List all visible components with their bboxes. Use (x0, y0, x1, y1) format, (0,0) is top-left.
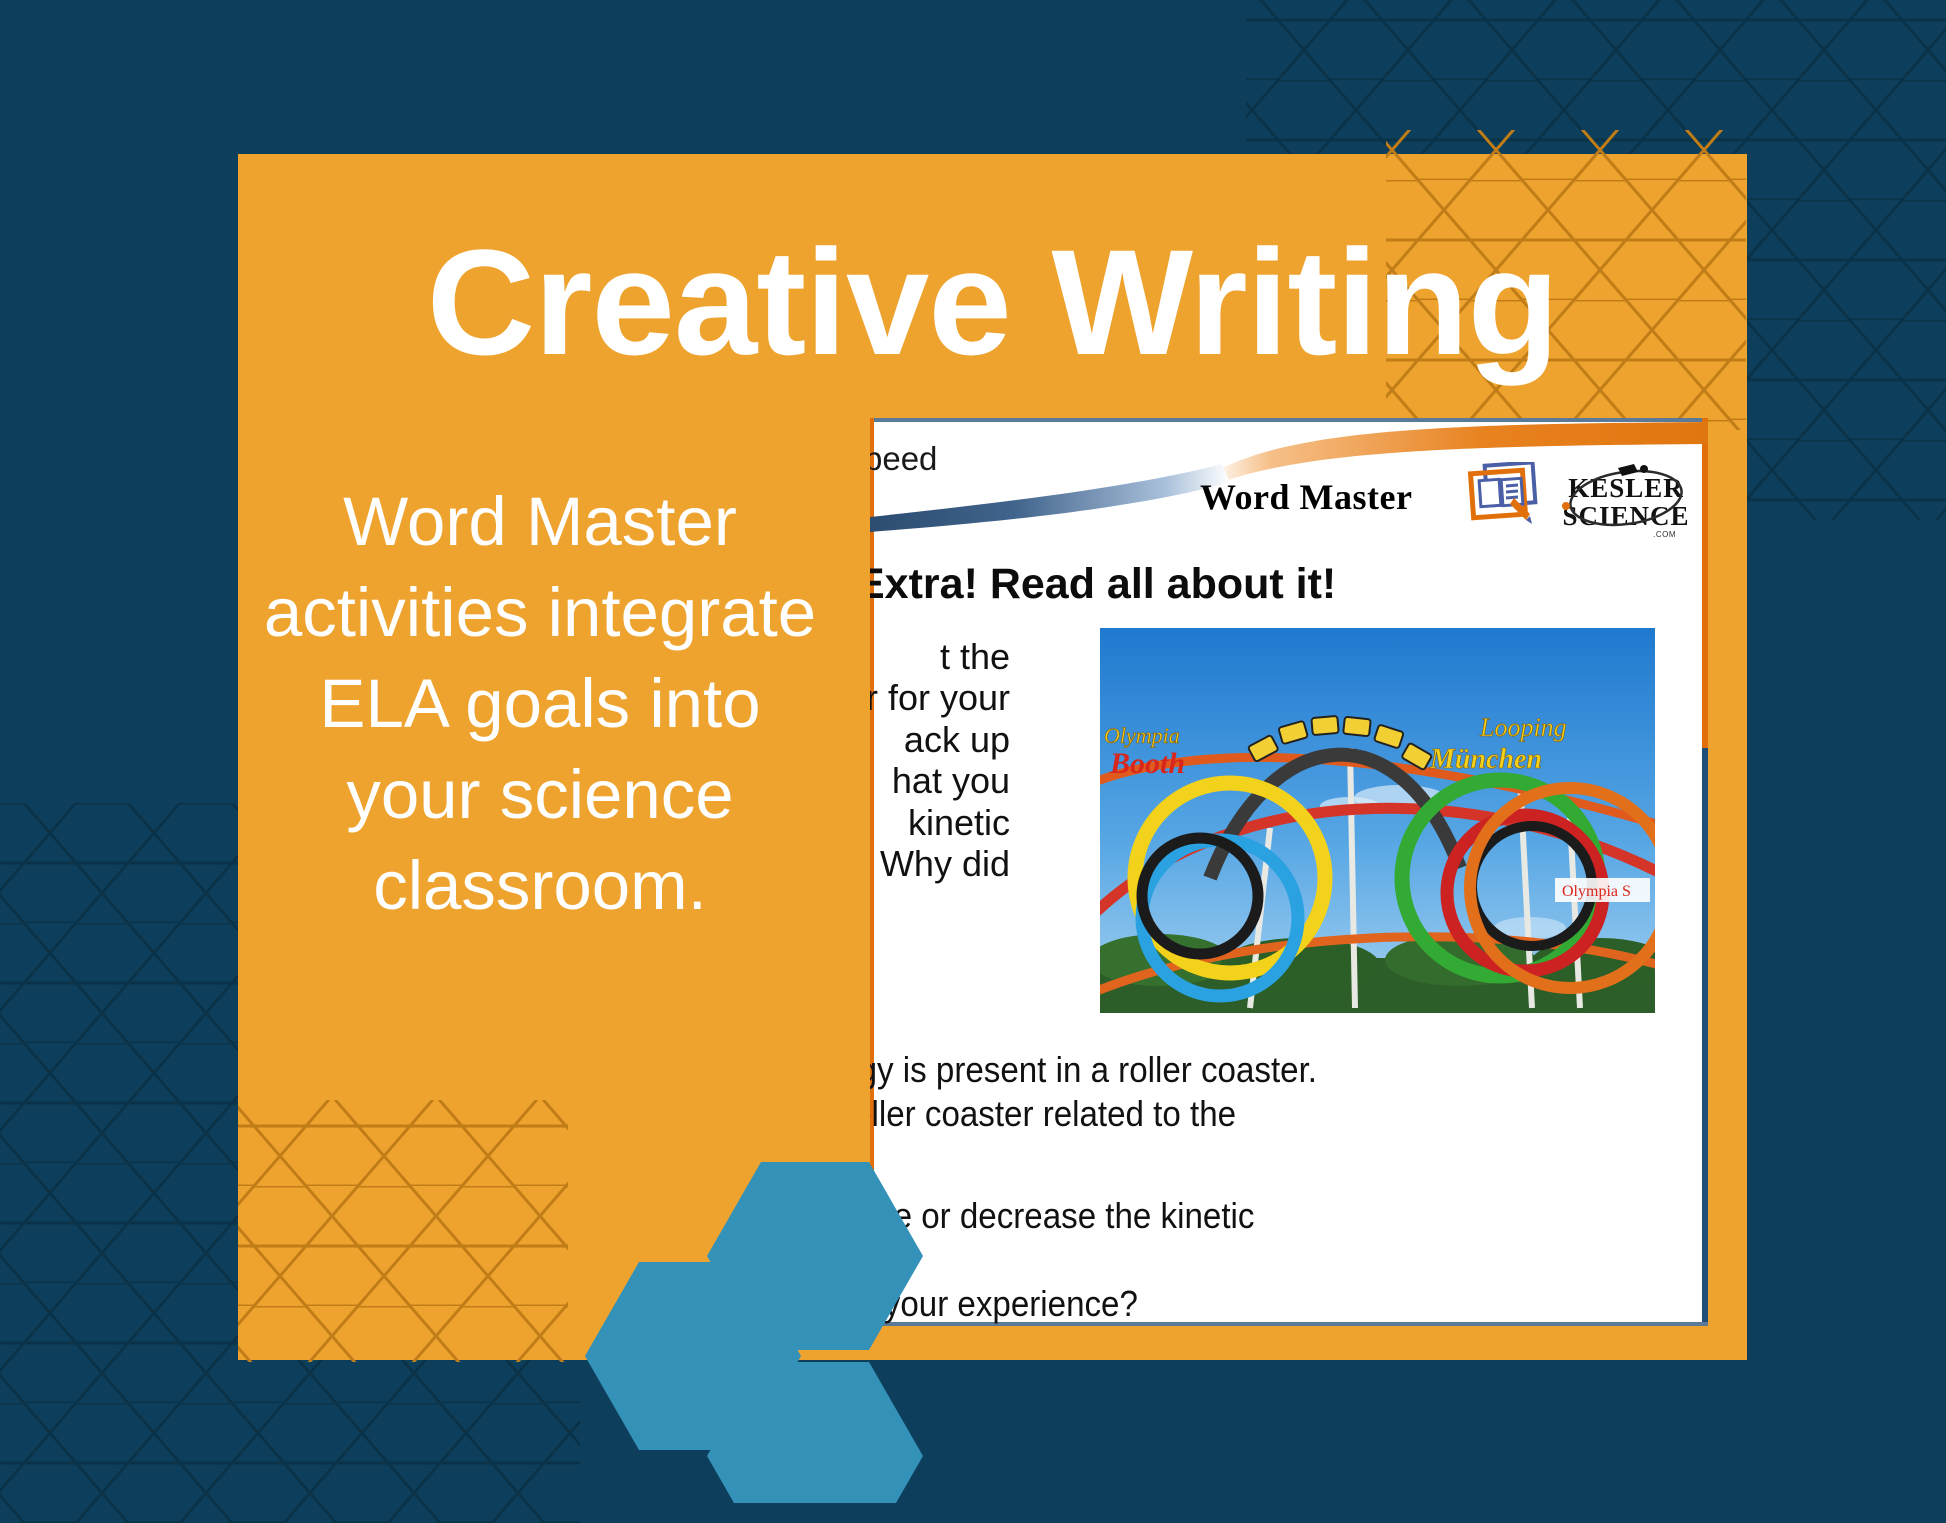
svg-text:Looping: Looping (1479, 713, 1567, 742)
body-line: ack up (870, 719, 1010, 760)
svg-text:München: München (1429, 744, 1542, 775)
kesler-science-logo: KESLER SCIENCE .COM (1560, 462, 1692, 532)
book-pencil-icon (1460, 462, 1540, 528)
body-line: hat you (870, 760, 1010, 801)
worksheet-body-paragraph-c: to increase or decrease the kinetic efer… (870, 1194, 1652, 1326)
body-line: eference? (870, 1238, 1652, 1282)
svg-text:Booth: Booth (1109, 747, 1185, 780)
body-line: Why did (870, 843, 1010, 884)
worksheet-header-fragment: peed (870, 440, 937, 478)
page-title: Creative Writing (238, 224, 1747, 382)
word-master-wordmark: Word Master (1200, 476, 1412, 518)
body-line: tic energy is present in a roller coaste… (870, 1048, 1652, 1092)
lead-paragraph: Word Master activities integrate ELA goa… (250, 476, 830, 931)
body-line: to increase or decrease the kinetic (870, 1194, 1652, 1238)
body-line: kinetic (870, 802, 1010, 843)
body-line: affecting your experience? (870, 1282, 1652, 1326)
body-line: of the roller coaster related to the (870, 1092, 1652, 1136)
body-line: t the (870, 636, 1010, 677)
body-line: r for your (870, 677, 1010, 718)
worksheet-right-rule-blue (1702, 748, 1708, 1326)
teal-hexagon-cluster (585, 1140, 985, 1503)
svg-text:Olympia S: Olympia S (1562, 883, 1631, 900)
worksheet-body-column-left: t the r for your ack up hat you kinetic … (870, 636, 1010, 884)
worksheet-body-paragraph-b: tic energy is present in a roller coaste… (870, 1048, 1652, 1136)
kesler-orbit-icon (1560, 462, 1692, 532)
worksheet-preview[interactable]: peed Word Master KESLER SCIENCE .COM Ext… (870, 418, 1708, 1326)
svg-text:Olympia: Olympia (1104, 723, 1180, 748)
roller-coaster-photo: Olympia Booth Looping München Olympia S (1100, 628, 1655, 1013)
worksheet-headline: Extra! Read all about it! (870, 560, 1336, 609)
